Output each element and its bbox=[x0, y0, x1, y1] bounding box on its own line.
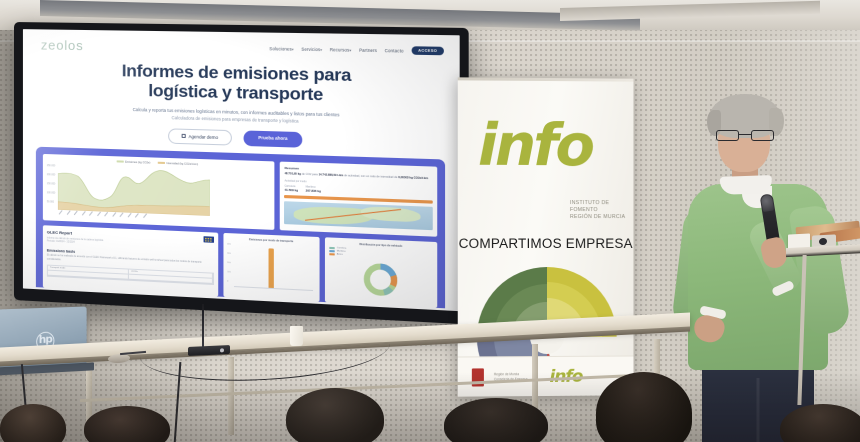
acceso-button[interactable]: ACCESO bbox=[411, 46, 444, 56]
info-subtitle-line1: INSTITUTO DE FOMENTO bbox=[570, 200, 634, 214]
gooseneck-microphone-rod bbox=[202, 304, 204, 348]
map-landmass bbox=[293, 205, 372, 225]
x-tick bbox=[89, 211, 93, 215]
donut-chart-svg bbox=[330, 257, 433, 302]
x-tick bbox=[127, 213, 131, 217]
emissions-area-chart-card: Emisiones (kg CO2e) Intensidad (kg CO2e/… bbox=[43, 154, 275, 230]
summary-metric-carretera: Carretera41.509 kg bbox=[285, 184, 299, 192]
legend-swatch-icon bbox=[330, 247, 335, 249]
nav-label: Recursos bbox=[330, 47, 350, 53]
banner-top-rail bbox=[458, 77, 634, 81]
legend-swatch-icon bbox=[330, 253, 335, 255]
info-logo: info bbox=[478, 122, 592, 169]
nav-label: Servicios bbox=[301, 46, 320, 52]
area-chart-svg bbox=[58, 163, 210, 215]
donut-chart-card: Distribución por tipo de vehículo Carret… bbox=[325, 237, 437, 308]
legend-item-emisiones: Emisiones (kg CO2e) bbox=[116, 160, 150, 164]
hero-section: Informes de emisiones para logística y t… bbox=[23, 55, 460, 152]
y-tick: 50.000 bbox=[47, 201, 54, 203]
bar-y-tick: 40k bbox=[227, 243, 231, 245]
summary-ratio-value: 0,00303 kg CO2e/t-km bbox=[398, 176, 428, 180]
logo-text: zeolos bbox=[41, 37, 84, 53]
hero-buttons: Agendar demo Prueba ahora bbox=[53, 125, 426, 151]
nav-link-partners[interactable]: Partners bbox=[359, 47, 377, 53]
zeolos-logo[interactable]: zeolos bbox=[41, 37, 84, 53]
legend-item-intensidad: Intensidad (kg CO2e/t-km) bbox=[158, 161, 198, 165]
metric-value: 41.509 kg bbox=[285, 187, 299, 192]
eu-flag-icon bbox=[203, 236, 213, 243]
prueba-ahora-button[interactable]: Prueba ahora bbox=[243, 130, 302, 147]
chevron-down-icon: ▾ bbox=[349, 48, 351, 52]
glasses-lens-left bbox=[716, 130, 739, 141]
page-title: Informes de emisiones para logística y t… bbox=[53, 60, 426, 107]
x-tick bbox=[74, 211, 78, 215]
y-tick: 150.000 bbox=[47, 183, 55, 185]
summary-suffix: de actividad, con un ratio de intensidad… bbox=[344, 174, 397, 179]
speaker-shirt-collar bbox=[720, 175, 773, 195]
calendar-icon bbox=[181, 134, 185, 138]
bar-chart-card: Emisiones por modo de transporte 40k 30k… bbox=[223, 233, 320, 302]
side-table-leg bbox=[797, 255, 806, 405]
bar-y-tick: 0 bbox=[227, 280, 228, 282]
summary-activity-value: 14.742.888,09 t-km bbox=[319, 173, 344, 177]
info-subtitle-line2: REGIÓN DE MURCIA bbox=[570, 214, 634, 221]
presentation-room-photo: zeolos Soluciones▾ Servicios▾ Recursos▾ … bbox=[0, 0, 860, 442]
area-chart-plot: 250.000 200.000 150.000 100.000 50.000 bbox=[47, 163, 271, 222]
dashboard-row-top: Emisiones (kg CO2e) Intensidad (kg CO2e/… bbox=[43, 154, 437, 237]
banner-headline: COMPARTIMOS EMPRESA bbox=[458, 236, 634, 251]
x-tick bbox=[97, 212, 101, 216]
y-tick: 200.000 bbox=[47, 174, 55, 176]
wall-mounted-tv: zeolos Soluciones▾ Servicios▾ Recursos▾ … bbox=[14, 22, 469, 324]
x-tick bbox=[143, 214, 147, 218]
x-tick bbox=[135, 213, 139, 217]
legend-label: Marítimo bbox=[337, 250, 346, 252]
report-title: GLEC Report bbox=[47, 229, 72, 235]
summary-metric-maritimo: Marítimo207.836 kg bbox=[306, 185, 321, 193]
ceiling-beam-secondary bbox=[560, 1, 820, 21]
glasses-lens-right bbox=[751, 130, 774, 141]
agendar-demo-button[interactable]: Agendar demo bbox=[168, 128, 232, 145]
legend-swatch-icon bbox=[330, 250, 335, 252]
legend-label: Emisiones (kg CO2e) bbox=[125, 160, 150, 164]
nav-link-servicios[interactable]: Servicios▾ bbox=[301, 46, 322, 52]
legend-label: Carretera bbox=[337, 247, 347, 250]
bar-y-tick: 20k bbox=[227, 262, 231, 264]
bar-chart-plot: 40k 30k 20k 10k 0 bbox=[227, 242, 315, 294]
x-tick bbox=[112, 212, 116, 216]
legend-swatch-icon bbox=[116, 160, 123, 163]
chevron-down-icon: ▾ bbox=[320, 47, 322, 51]
glec-report-card: GLEC Report Informe de cálculo de emisio… bbox=[43, 225, 218, 296]
agendar-demo-label: Agendar demo bbox=[189, 134, 219, 140]
computer-mouse[interactable] bbox=[108, 353, 130, 363]
tv-screen: zeolos Soluciones▾ Servicios▾ Recursos▾ … bbox=[23, 29, 460, 311]
hero-title-line2: logística y transporte bbox=[148, 81, 323, 105]
summary-emissions-value: 48.701,95 kg bbox=[285, 172, 301, 176]
bar-y-tick: 30k bbox=[227, 252, 231, 254]
summary-mid: de CO2 para bbox=[302, 173, 318, 177]
nav-links: Soluciones▾ Servicios▾ Recursos▾ Partner… bbox=[269, 44, 444, 56]
summary-card: Resumen 48.701,95 kg de CO2 para 14.742.… bbox=[280, 161, 437, 236]
nav-link-recursos[interactable]: Recursos▾ bbox=[330, 47, 352, 53]
dashboard-row-bottom: GLEC Report Informe de cálculo de emisio… bbox=[43, 225, 437, 308]
legend-label: Aéreo bbox=[337, 253, 343, 255]
zeolos-website: zeolos Soluciones▾ Servicios▾ Recursos▾ … bbox=[23, 29, 460, 311]
nav-label: Soluciones bbox=[269, 46, 292, 52]
x-tick bbox=[81, 211, 85, 215]
paper-cup bbox=[290, 326, 303, 346]
chevron-down-icon: ▾ bbox=[292, 47, 294, 51]
audience-head bbox=[286, 388, 384, 442]
bar-y-tick: 10k bbox=[227, 271, 231, 273]
y-tick: 100.000 bbox=[47, 192, 55, 194]
glasses-icon bbox=[716, 130, 774, 141]
x-tick bbox=[104, 212, 108, 216]
bar-chart-bar bbox=[268, 248, 273, 288]
route-map bbox=[285, 201, 433, 230]
nav-link-contacto[interactable]: Contacto bbox=[385, 47, 404, 53]
x-tick bbox=[66, 210, 70, 214]
info-logo-subtitle: INSTITUTO DE FOMENTO REGIÓN DE MURCIA bbox=[570, 200, 634, 221]
x-tick bbox=[59, 210, 63, 214]
nav-link-soluciones[interactable]: Soluciones▾ bbox=[269, 46, 293, 52]
legend-label: Intensidad (kg CO2e/t-km) bbox=[166, 162, 198, 166]
dashboard-preview: Emisiones (kg CO2e) Intensidad (kg CO2e/… bbox=[36, 146, 445, 308]
legend-swatch-icon bbox=[158, 162, 165, 165]
x-axis-ticks bbox=[59, 214, 148, 218]
metric-value: 207.836 kg bbox=[306, 188, 321, 193]
y-tick: 250.000 bbox=[47, 165, 55, 167]
x-tick bbox=[119, 213, 123, 217]
